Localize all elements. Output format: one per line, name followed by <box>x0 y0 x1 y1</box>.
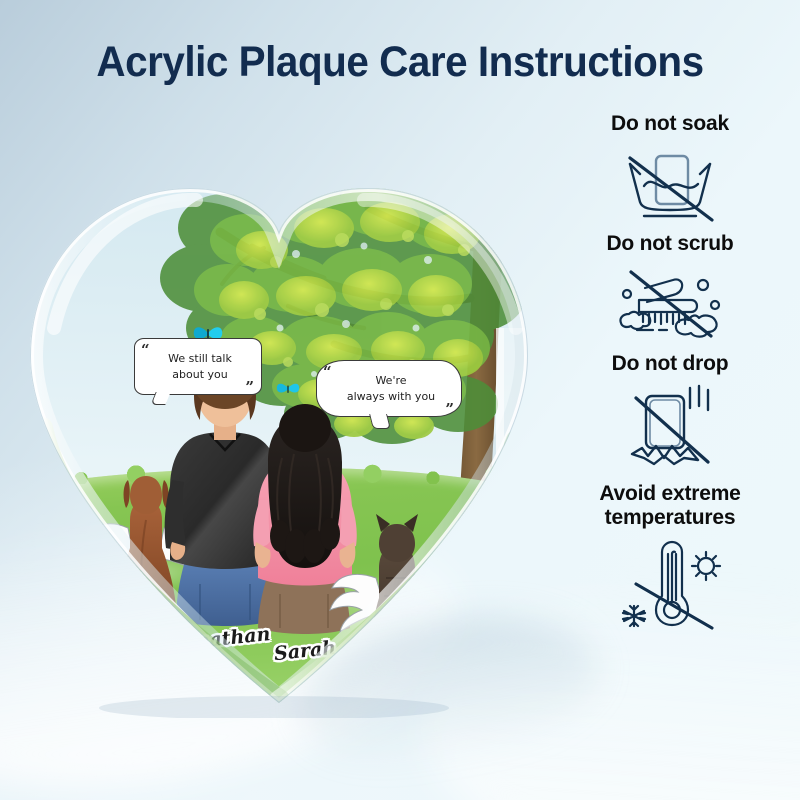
no-soak-icon <box>614 140 726 222</box>
no-scrub-icon <box>603 260 737 342</box>
family-figures <box>24 128 534 718</box>
instruction-label-do-not-scrub: Do not scrub <box>540 232 800 256</box>
no-extreme-temperature-icon <box>610 534 730 630</box>
name-label-coco: Coco <box>361 651 415 678</box>
instruction-label-line2: temperatures <box>605 506 736 529</box>
quote-open-icon: “ <box>141 340 150 361</box>
page-title: Acrylic Plaque Care Instructions <box>24 38 776 87</box>
care-instructions-list: Do not soak Do not scrub <box>540 112 800 636</box>
instruction-label-avoid-extreme-temperatures: Avoid extreme temperatures <box>540 482 800 530</box>
speech-bubble-left: “ We still talk about you ” <box>134 338 262 395</box>
care-instructions-page: Acrylic Plaque Care Instructions <box>0 0 800 800</box>
name-label-peanut: Peanut <box>95 606 172 637</box>
instruction-do-not-soak: Do not soak <box>540 112 800 222</box>
instruction-label-line1: Avoid extreme <box>599 482 740 505</box>
instruction-label-do-not-drop: Do not drop <box>540 352 800 376</box>
speech-bubble-right-line1: We're <box>375 374 406 387</box>
speech-bubble-right: “ We're always with you ” <box>316 360 462 417</box>
quote-close-icon: ” <box>445 399 454 420</box>
instruction-do-not-scrub: Do not scrub <box>540 232 800 342</box>
instruction-do-not-drop: Do not drop <box>540 352 800 470</box>
speech-bubble-right-line2: always with you <box>347 390 435 403</box>
acrylic-plaque: “ We still talk about you ” “ We're alwa… <box>24 128 534 718</box>
speech-bubble-left-line2: about you <box>172 368 227 381</box>
quote-open-icon: “ <box>323 362 332 383</box>
speech-bubble-left-line1: We still talk <box>168 352 232 365</box>
plaque-artwork: “ We still talk about you ” “ We're alwa… <box>24 128 534 718</box>
instruction-avoid-extreme-temperatures: Avoid extreme temperatures <box>540 482 800 630</box>
instruction-label-do-not-soak: Do not soak <box>540 112 800 136</box>
quote-close-icon: ” <box>245 377 254 398</box>
no-drop-icon <box>614 380 726 470</box>
